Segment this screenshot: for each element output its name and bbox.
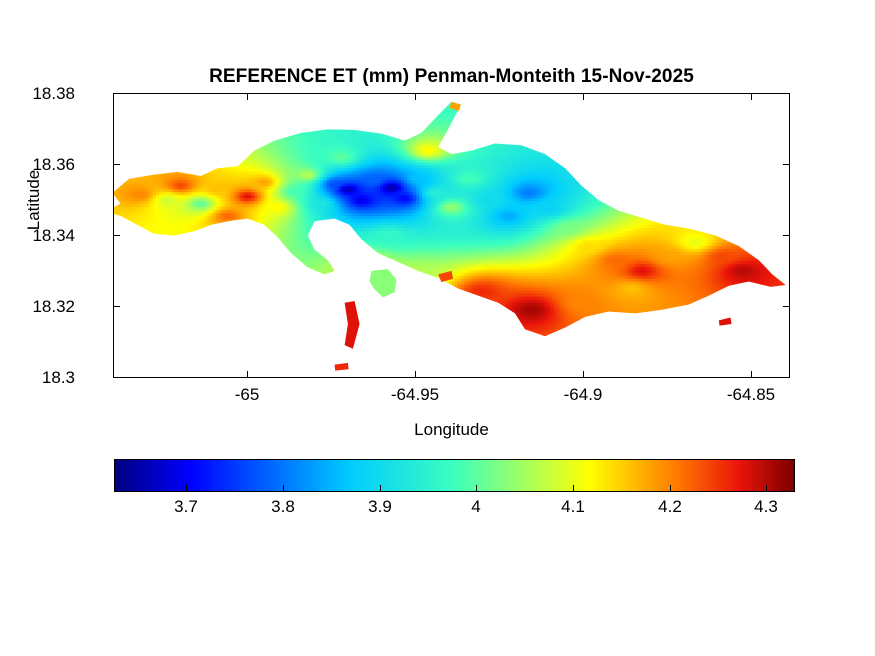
cbtick-3-9 — [380, 485, 381, 492]
xtick--64-95 — [415, 371, 416, 378]
ytick-18-34 — [113, 235, 120, 236]
xtick-label--65: -65 — [235, 385, 260, 405]
ytick-right-18-38 — [783, 93, 790, 94]
cbtick-4-0 — [476, 485, 477, 492]
xtick-label--64-95: -64.95 — [391, 385, 439, 405]
xtick-top--64-95 — [415, 93, 416, 100]
xtick-top--65 — [247, 93, 248, 100]
cblabel-4-0: 4 — [471, 497, 480, 517]
cblabel-3-8: 3.8 — [271, 497, 295, 517]
xtick-label--64-9: -64.9 — [564, 385, 603, 405]
ytick-label-18-32: 18.32 — [32, 297, 75, 317]
x-axis-label: Longitude — [113, 420, 790, 440]
cbtick-4-1 — [573, 485, 574, 492]
xtick--64-85 — [751, 371, 752, 378]
colorbar-gradient — [115, 460, 794, 491]
et-map-figure: REFERENCE ET (mm) Penman-Monteith 15-Nov… — [0, 0, 875, 656]
page-title: REFERENCE ET (mm) Penman-Monteith 15-Nov… — [113, 66, 790, 88]
xtick--64-9 — [583, 371, 584, 378]
cbtick-4-3 — [766, 485, 767, 492]
ytick-18-38 — [113, 93, 120, 94]
xtick-top--64-9 — [583, 93, 584, 100]
cbtick-3-7 — [186, 485, 187, 492]
xtick--65 — [247, 371, 248, 378]
ytick-right-18-34 — [783, 235, 790, 236]
y-axis-label: Latitude — [24, 140, 44, 260]
cblabel-4-2: 4.2 — [658, 497, 682, 517]
cbtick-4-2 — [670, 485, 671, 492]
xtick-top--64-85 — [751, 93, 752, 100]
xtick-label--64-85: -64.85 — [727, 385, 775, 405]
ytick-18-30 — [113, 377, 120, 378]
ytick-18-32 — [113, 306, 120, 307]
ytick-right-18-32 — [783, 306, 790, 307]
cblabel-3-7: 3.7 — [174, 497, 198, 517]
map-axes — [113, 93, 790, 378]
ytick-label-18-38: 18.38 — [32, 84, 75, 104]
ytick-right-18-36 — [783, 164, 790, 165]
et-field-map — [114, 94, 789, 377]
ytick-label-18-30: 18.3 — [42, 368, 75, 388]
cblabel-3-9: 3.9 — [368, 497, 392, 517]
ytick-18-36 — [113, 164, 120, 165]
cblabel-4-1: 4.1 — [561, 497, 585, 517]
colorbar — [114, 459, 795, 492]
cblabel-4-3: 4.3 — [754, 497, 778, 517]
cbtick-3-8 — [283, 485, 284, 492]
